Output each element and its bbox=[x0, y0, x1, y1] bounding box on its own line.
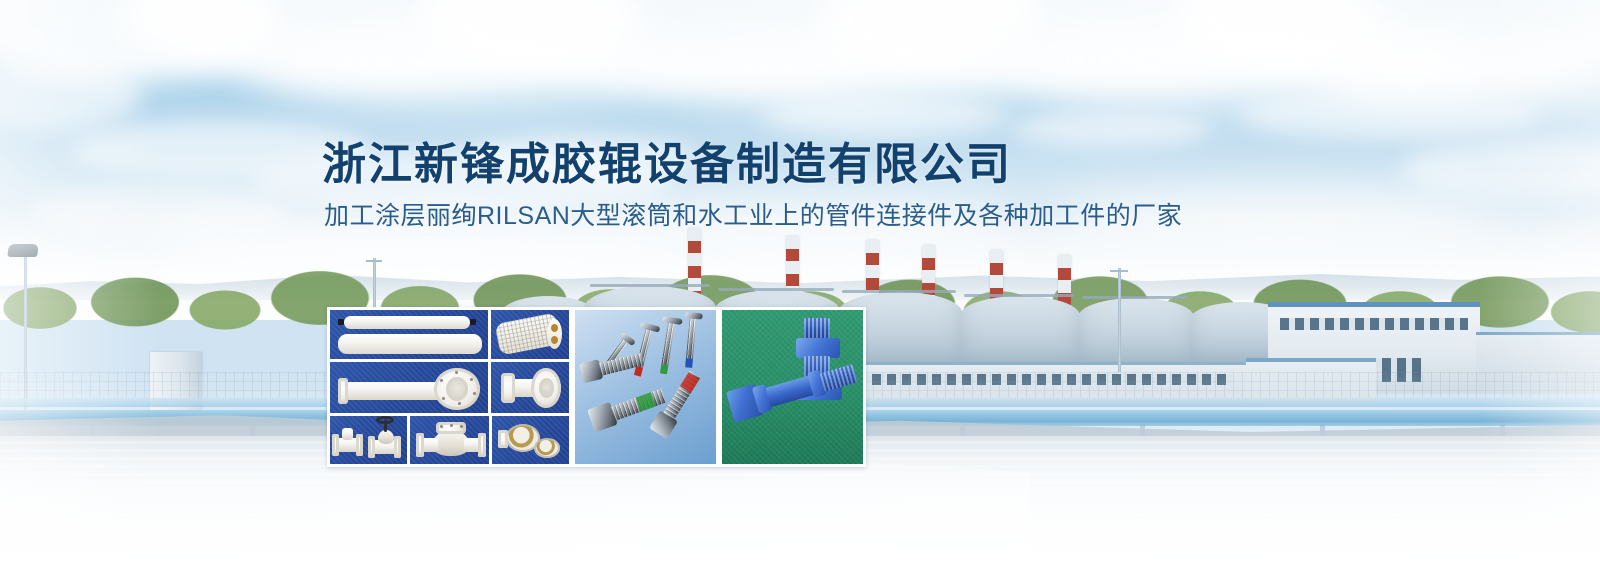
panel-coated-bolts[interactable] bbox=[719, 307, 866, 467]
company-tagline: 加工涂层丽绚RILSAN大型滚筒和水工业上的管件连接件及各种加工件的厂家 bbox=[324, 196, 1182, 232]
storage-tank bbox=[960, 296, 1080, 372]
cell-swing-check-valve[interactable] bbox=[410, 416, 489, 464]
company-name-heading: 浙江新锋成胶辊设备制造有限公司 bbox=[322, 128, 1012, 192]
window-strip bbox=[1280, 318, 1468, 330]
cell-y-strainer-and-gate-valve[interactable] bbox=[330, 416, 407, 464]
panel-steel-bolts[interactable] bbox=[572, 307, 719, 467]
product-collage[interactable] bbox=[327, 307, 866, 467]
hero-banner: 浙江新锋成胶辊设备制造有限公司 加工涂层丽绚RILSAN大型滚筒和水工业上的管件… bbox=[0, 0, 1600, 583]
cell-rubber-rollers[interactable] bbox=[330, 310, 488, 359]
street-lamp-icon bbox=[7, 244, 38, 257]
storage-tank bbox=[1078, 298, 1194, 372]
street-lamp-icon bbox=[1110, 270, 1128, 272]
cell-short-flange-spool[interactable] bbox=[491, 362, 569, 413]
street-lamp-icon bbox=[1118, 268, 1121, 372]
cell-flange-gaskets[interactable] bbox=[492, 416, 569, 464]
street-lamp-icon bbox=[366, 260, 382, 262]
cell-flanged-pipe-spool[interactable] bbox=[330, 362, 488, 413]
cell-perforated-roller-core[interactable] bbox=[491, 310, 569, 359]
panel-fittings[interactable] bbox=[327, 307, 572, 467]
